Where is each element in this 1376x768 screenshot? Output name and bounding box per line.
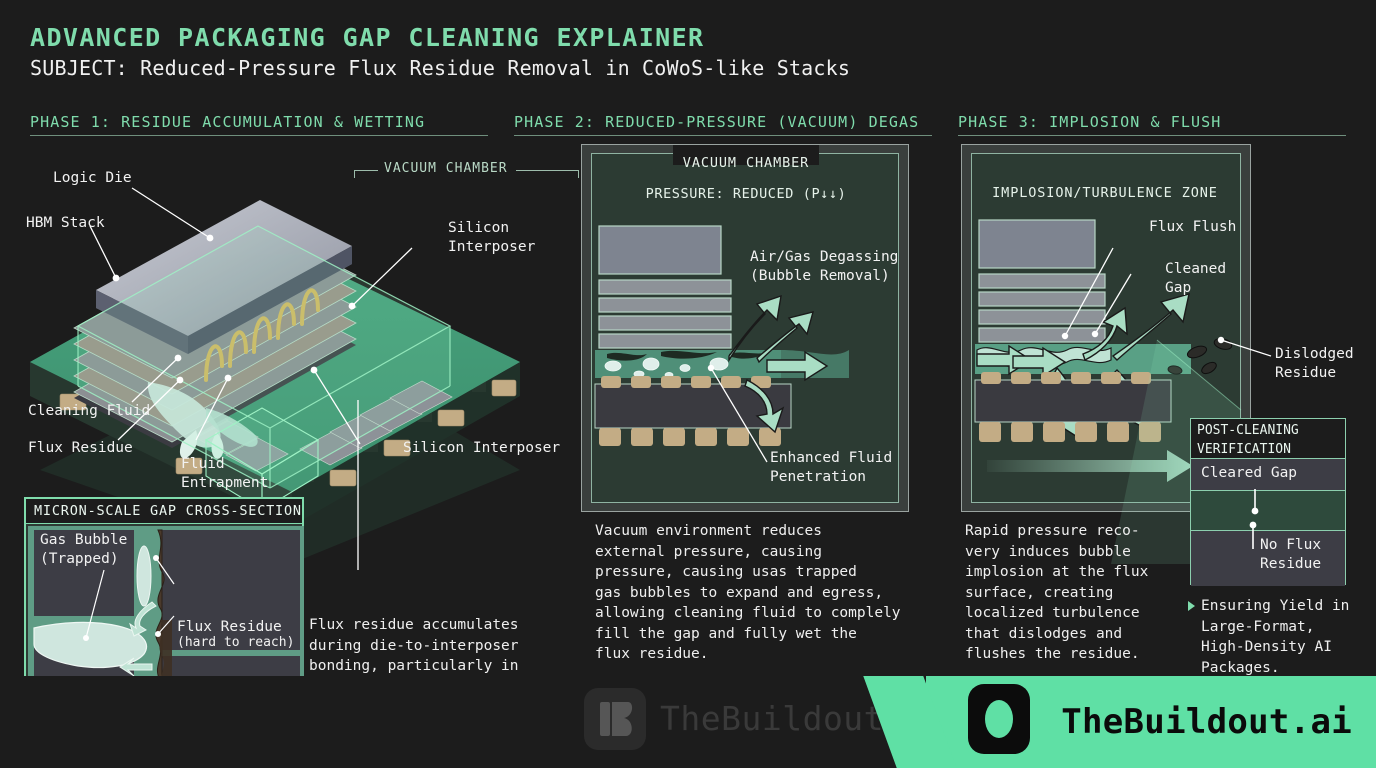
subject-line: SUBJECT: Reduced-Pressure Flux Residue R… [30, 56, 850, 80]
tag-tick-right [578, 170, 579, 178]
phase-3-rule [958, 135, 1346, 136]
label-logic-die: Logic Die [53, 169, 132, 188]
label-flux-residue-sub: (hard to reach) [177, 635, 294, 652]
post-cleaning-verification-inset: POST-CLEANING VERIFICATION Cleared Gap N… [1190, 418, 1346, 585]
label-dislodged-residue: Dislodged Residue [1275, 345, 1354, 382]
label-silicon-interposer-right: Silicon Interposer [448, 219, 535, 256]
watermark-logo-icon [584, 688, 646, 750]
label-hbm-stack: HBM Stack [26, 214, 105, 233]
label-flux-residue-xsec: Flux Residue [177, 618, 282, 637]
phase-1-rule [30, 135, 488, 136]
phase-2-rule [514, 135, 932, 136]
phase2-pressure-readout: PRESSURE: REDUCED (P↓↓) [621, 186, 871, 202]
tag-tick-left [354, 170, 355, 178]
label-flux-residue: Flux Residue [28, 439, 133, 458]
label-cleaning-fluid: Cleaning Fluid [28, 402, 150, 421]
brand-logo-icon [968, 684, 1030, 754]
phase-1-heading: PHASE 1: RESIDUE ACCUMULATION & WETTING [30, 113, 425, 131]
tag-line-right [516, 170, 578, 171]
watermark-glyph [584, 688, 646, 750]
label-flux-flush: Flux Flush [1149, 218, 1236, 237]
label-cleared-gap: Cleared Gap [1201, 464, 1297, 483]
label-cleaned-gap: Cleaned Gap [1165, 260, 1226, 297]
label-gas-bubble: Gas Bubble (Trapped) [40, 531, 127, 568]
phase-2-body-text: Vacuum environment reduces external pres… [595, 521, 910, 665]
page-title: ADVANCED PACKAGING GAP CLEANING EXPLAINE… [30, 23, 705, 52]
brand-name: TheBuildout.ai [1061, 702, 1352, 742]
label-silicon-interposer-bottom: Silicon Interposer [403, 439, 560, 458]
phase-3-conclusion: Ensuring Yield in Large-Format, High-Den… [1201, 596, 1376, 678]
phase-2-heading: PHASE 2: REDUCED-PRESSURE (VACUUM) DEGAS [514, 113, 919, 131]
phase1-vacuum-chamber-tag: VACUUM CHAMBER [384, 161, 508, 176]
label-no-flux-residue: No Flux Residue [1260, 536, 1321, 573]
label-air-gas-degassing: Air/Gas Degassing (Bubble Removal) [750, 248, 898, 285]
phase3-zone-tag: IMPLOSION/TURBULENCE ZONE [985, 185, 1225, 201]
phase-3-body-text: Rapid pressure reco- very induces bubble… [965, 521, 1180, 665]
bullet-triangle-icon [1188, 601, 1195, 611]
phase2-vacuum-chamber-tag: VACUUM CHAMBER [673, 155, 819, 171]
infographic-canvas: ADVANCED PACKAGING GAP CLEANING EXPLAINE… [0, 0, 1376, 768]
label-fluid-entrapment: Fluid Entrapment [181, 455, 268, 492]
phase-3-heading: PHASE 3: IMPLOSION & FLUSH [958, 113, 1221, 131]
tag-line-left [354, 170, 378, 171]
cross-section-title: MICRON-SCALE GAP CROSS-SECTION [26, 499, 302, 524]
label-enhanced-fluid-penetration: Enhanced Fluid Penetration [770, 449, 892, 486]
